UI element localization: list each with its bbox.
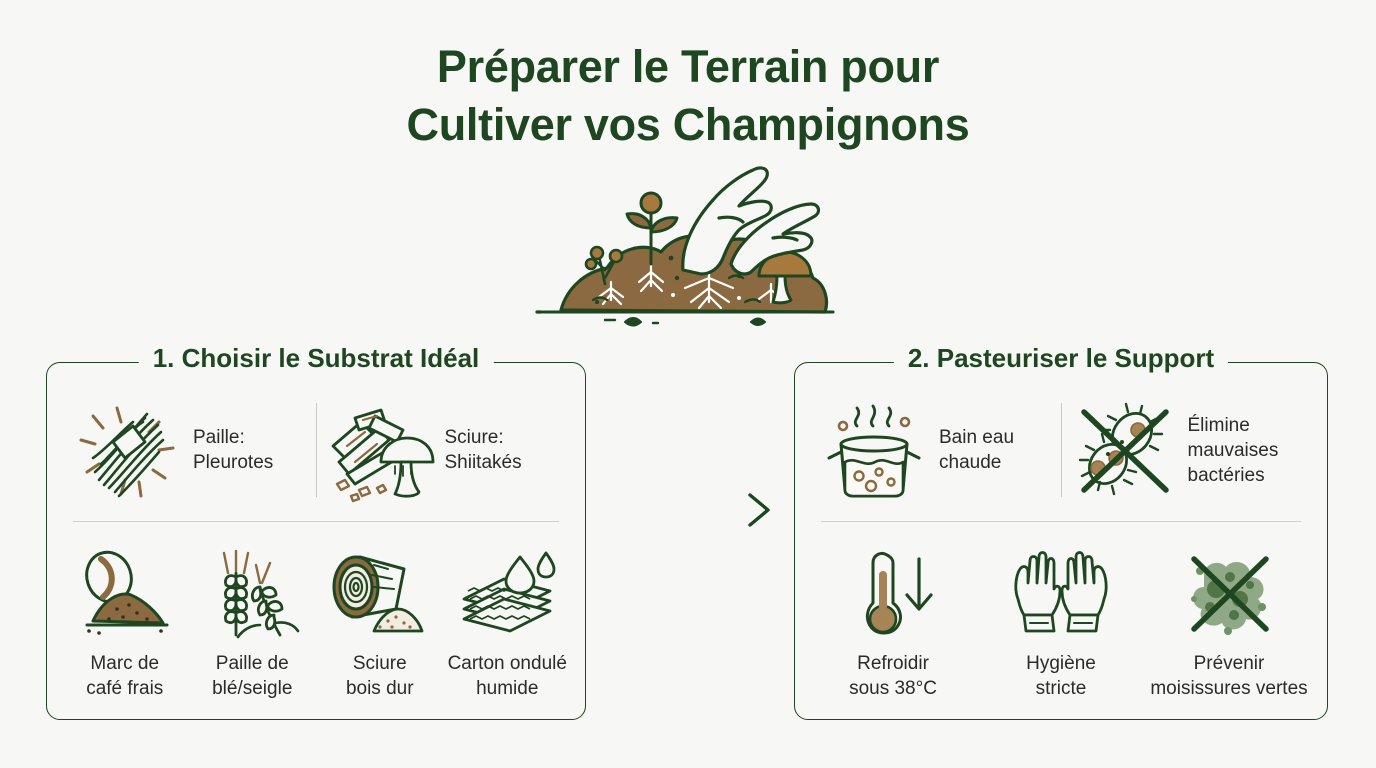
arrow-right-icon — [600, 490, 780, 530]
panel-2-bottom-row: Refroidir sous 38°C — [809, 539, 1313, 705]
panel-choose-substrate: 1. Choisir le Substrat Idéal — [46, 362, 586, 720]
substrate-sawdust-item[interactable]: Sciure: Shiitakés — [321, 389, 564, 511]
item-wet-cardboard[interactable]: Carton ondulé humide — [444, 539, 572, 701]
title-line-2: Cultiver vos Champignons — [0, 96, 1376, 154]
item-prevent-green-mold[interactable]: Prévenir moisissures vertes — [1145, 539, 1313, 701]
panel-2-horizontal-divider — [821, 521, 1301, 522]
straw-bundle-icon — [73, 396, 183, 504]
panel-1-top-row: Paille: Pleurotes — [69, 389, 563, 511]
substrate-straw-label: Paille: Pleurotes — [193, 425, 273, 475]
hero-illustration — [533, 160, 843, 345]
panel-1-top-divider — [316, 403, 317, 497]
item-hardwood-sawdust-label: Sciure bois dur — [346, 651, 414, 701]
item-coffee-grounds-label: Marc de café frais — [86, 651, 163, 701]
thermometer-cooling-icon — [843, 545, 943, 641]
item-strict-hygiene[interactable]: Hygiène stricte — [977, 539, 1145, 701]
wet-cardboard-stack-icon — [452, 545, 562, 641]
item-hardwood-sawdust[interactable]: Sciure bois dur — [316, 539, 444, 701]
gloves-icon — [1006, 545, 1116, 641]
no-green-mold-icon — [1174, 545, 1284, 641]
step-eliminate-bacteria-label: Élimine mauvaises bactéries — [1188, 413, 1279, 488]
panel-1-bottom-row: Marc de café frais — [61, 539, 571, 705]
no-bacteria-icon — [1070, 396, 1178, 504]
title-line-1: Préparer le Terrain pour — [437, 41, 939, 92]
panel-2-top-row: Bain eau chaude — [817, 389, 1305, 511]
substrate-sawdust-label: Sciure: Shiitakés — [445, 425, 522, 475]
wheat-stalks-icon — [202, 545, 302, 641]
coffee-grounds-icon — [75, 545, 175, 641]
item-strict-hygiene-label: Hygiène stricte — [1026, 651, 1096, 701]
item-wet-cardboard-label: Carton ondulé humide — [448, 651, 567, 701]
hot-water-bath-pot-icon — [821, 396, 929, 504]
substrate-straw-item[interactable]: Paille: Pleurotes — [69, 389, 312, 511]
step-hot-water-bath[interactable]: Bain eau chaude — [817, 389, 1057, 511]
item-cool-below-38-label: Refroidir sous 38°C — [849, 651, 937, 701]
panel-2-top-divider — [1061, 403, 1062, 497]
sawdust-logs-mushroom-icon — [325, 396, 435, 504]
step-hot-water-bath-label: Bain eau chaude — [939, 425, 1014, 475]
item-wheat-straw[interactable]: Paille de blé/seigle — [189, 539, 317, 701]
connector-arrow — [600, 490, 780, 530]
hardwood-log-sawdust-icon — [330, 545, 430, 641]
item-wheat-straw-label: Paille de blé/seigle — [212, 651, 292, 701]
item-cool-below-38[interactable]: Refroidir sous 38°C — [809, 539, 977, 701]
page-title: Préparer le Terrain pour Cultiver vos Ch… — [0, 38, 1376, 154]
item-prevent-green-mold-label: Prévenir moisissures vertes — [1150, 651, 1307, 701]
infographic-canvas: Préparer le Terrain pour Cultiver vos Ch… — [0, 0, 1376, 768]
panel-1-horizontal-divider — [73, 521, 559, 522]
hands-planting-mycelium-soil-mound-icon — [533, 160, 843, 345]
panel-pasteurize-support: 2. Pasteuriser le Support — [794, 362, 1328, 720]
item-coffee-grounds[interactable]: Marc de café frais — [61, 539, 189, 701]
step-eliminate-bacteria[interactable]: Élimine mauvaises bactéries — [1066, 389, 1306, 511]
